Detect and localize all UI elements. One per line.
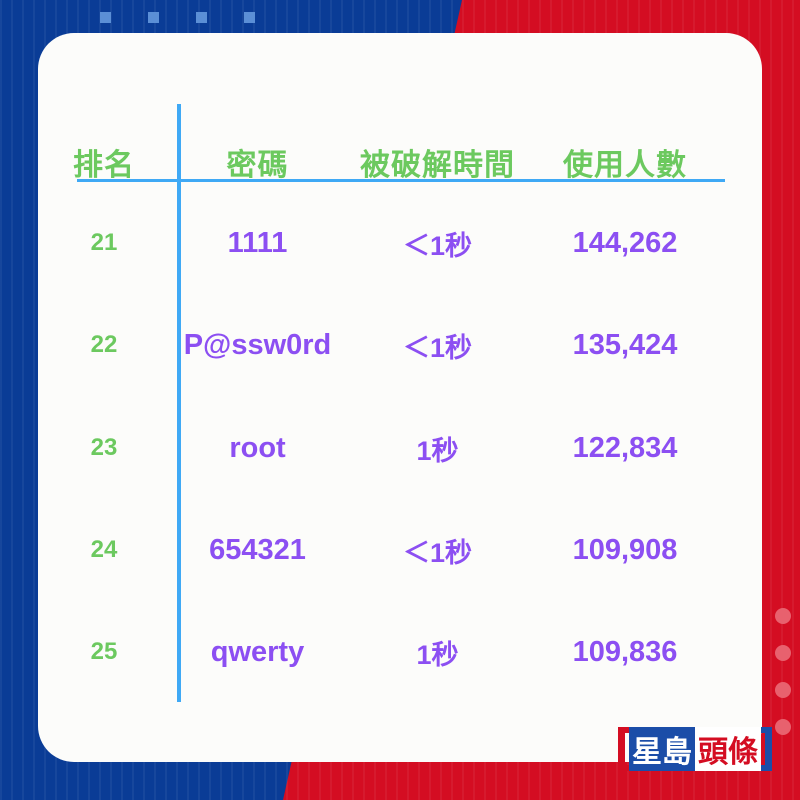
cell-crack-time: ＜1秒 bbox=[345, 224, 530, 263]
cell-password: 1111 bbox=[170, 227, 345, 260]
logo-right-bracket bbox=[761, 727, 772, 771]
cell-user-count: 109,908 bbox=[530, 534, 720, 567]
password-ranking-table: 排名 密碼 被破解時間 使用人數 21 1111 ＜1秒 144,262 22 … bbox=[38, 33, 762, 762]
table-row: 22 P@ssw0rd ＜1秒 135,424 bbox=[38, 315, 762, 375]
content-card: 排名 密碼 被破解時間 使用人數 21 1111 ＜1秒 144,262 22 … bbox=[38, 33, 762, 762]
cell-crack-time: 1秒 bbox=[345, 633, 530, 672]
table-row: 21 1111 ＜1秒 144,262 bbox=[38, 213, 762, 273]
cell-rank: 22 bbox=[38, 331, 170, 359]
decorative-square-dot bbox=[148, 12, 159, 23]
decorative-circle-dot bbox=[775, 645, 791, 661]
table-row: 25 qwerty 1秒 109,836 bbox=[38, 622, 762, 682]
cell-user-count: 122,834 bbox=[530, 432, 720, 465]
logo-text-singtao: 星島 bbox=[629, 727, 695, 771]
cell-rank: 21 bbox=[38, 229, 170, 257]
logo-text-headline: 頭條 bbox=[695, 727, 761, 771]
column-header-rank: 排名 bbox=[38, 140, 170, 184]
cell-user-count: 144,262 bbox=[530, 227, 720, 260]
decorative-circle-dot bbox=[775, 608, 791, 624]
logo-left-bracket bbox=[618, 727, 629, 771]
table-header-row: 排名 密碼 被破解時間 使用人數 bbox=[38, 132, 762, 192]
cell-rank: 24 bbox=[38, 536, 170, 564]
cell-crack-time: ＜1秒 bbox=[345, 326, 530, 365]
decorative-circle-dot bbox=[775, 682, 791, 698]
table-row: 24 654321 ＜1秒 109,908 bbox=[38, 520, 762, 580]
cell-user-count: 109,836 bbox=[530, 636, 720, 669]
cell-password: root bbox=[170, 432, 345, 465]
column-header-password: 密碼 bbox=[170, 140, 345, 184]
cell-rank: 25 bbox=[38, 638, 170, 666]
cell-rank: 23 bbox=[38, 434, 170, 462]
cell-crack-time: ＜1秒 bbox=[345, 531, 530, 570]
cell-password: 654321 bbox=[170, 534, 345, 567]
column-header-crack-time: 被破解時間 bbox=[345, 140, 530, 184]
cell-user-count: 135,424 bbox=[530, 329, 720, 362]
decorative-square-dot bbox=[100, 12, 111, 23]
table-row: 23 root 1秒 122,834 bbox=[38, 418, 762, 478]
cell-crack-time: 1秒 bbox=[345, 429, 530, 468]
cell-password: P@ssw0rd bbox=[170, 329, 345, 362]
decorative-square-dot bbox=[244, 12, 255, 23]
column-header-user-count: 使用人數 bbox=[530, 140, 720, 184]
sing-tao-headline-logo: 星島 頭條 bbox=[618, 726, 772, 772]
decorative-circle-dot bbox=[775, 719, 791, 735]
table-vertical-divider bbox=[177, 104, 181, 702]
cell-password: qwerty bbox=[170, 636, 345, 669]
decorative-square-dot bbox=[196, 12, 207, 23]
